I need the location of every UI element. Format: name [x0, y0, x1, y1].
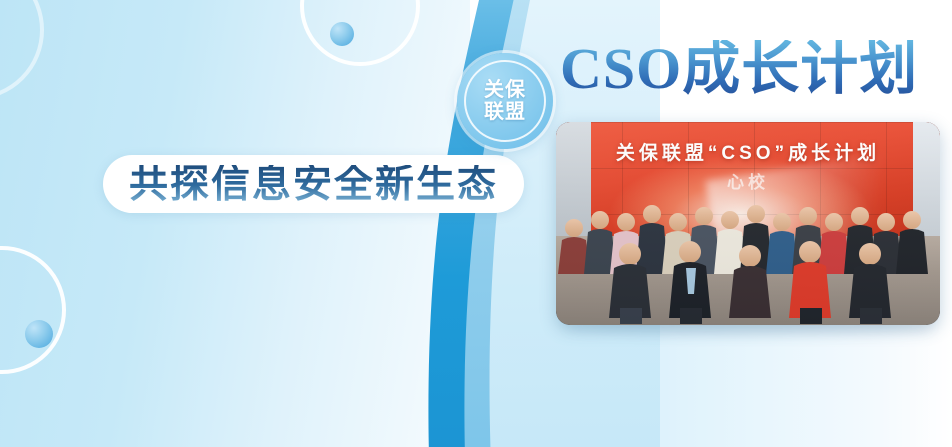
headline-text: 共探信息安全新生态 — [129, 165, 498, 204]
headline-pill: 共探信息安全新生态 — [103, 155, 524, 213]
ring-decoration-left — [0, 0, 44, 100]
group-photo-image: 关保联盟“CSO”成长计划 心校 — [556, 122, 940, 325]
emblem-line-2: 联盟 — [484, 101, 526, 123]
dot-decoration-top — [330, 22, 354, 46]
group-photo-card: 关保联盟“CSO”成长计划 心校 — [556, 122, 940, 325]
dot-decoration-bottom — [25, 320, 53, 348]
emblem-text: 关保 联盟 — [484, 79, 526, 123]
emblem-line-1: 关保 — [484, 79, 526, 101]
alliance-emblem-badge: 关保 联盟 — [457, 53, 553, 149]
ring-decoration-bottom — [0, 246, 66, 374]
photo-sheen-overlay — [556, 122, 940, 325]
page-title: CSO成长计划 — [560, 40, 918, 98]
promotional-banner: 共探信息安全新生态 关保 联盟 CSO成长计划 关保联盟“CSO”成长计划 心校 — [0, 0, 952, 447]
